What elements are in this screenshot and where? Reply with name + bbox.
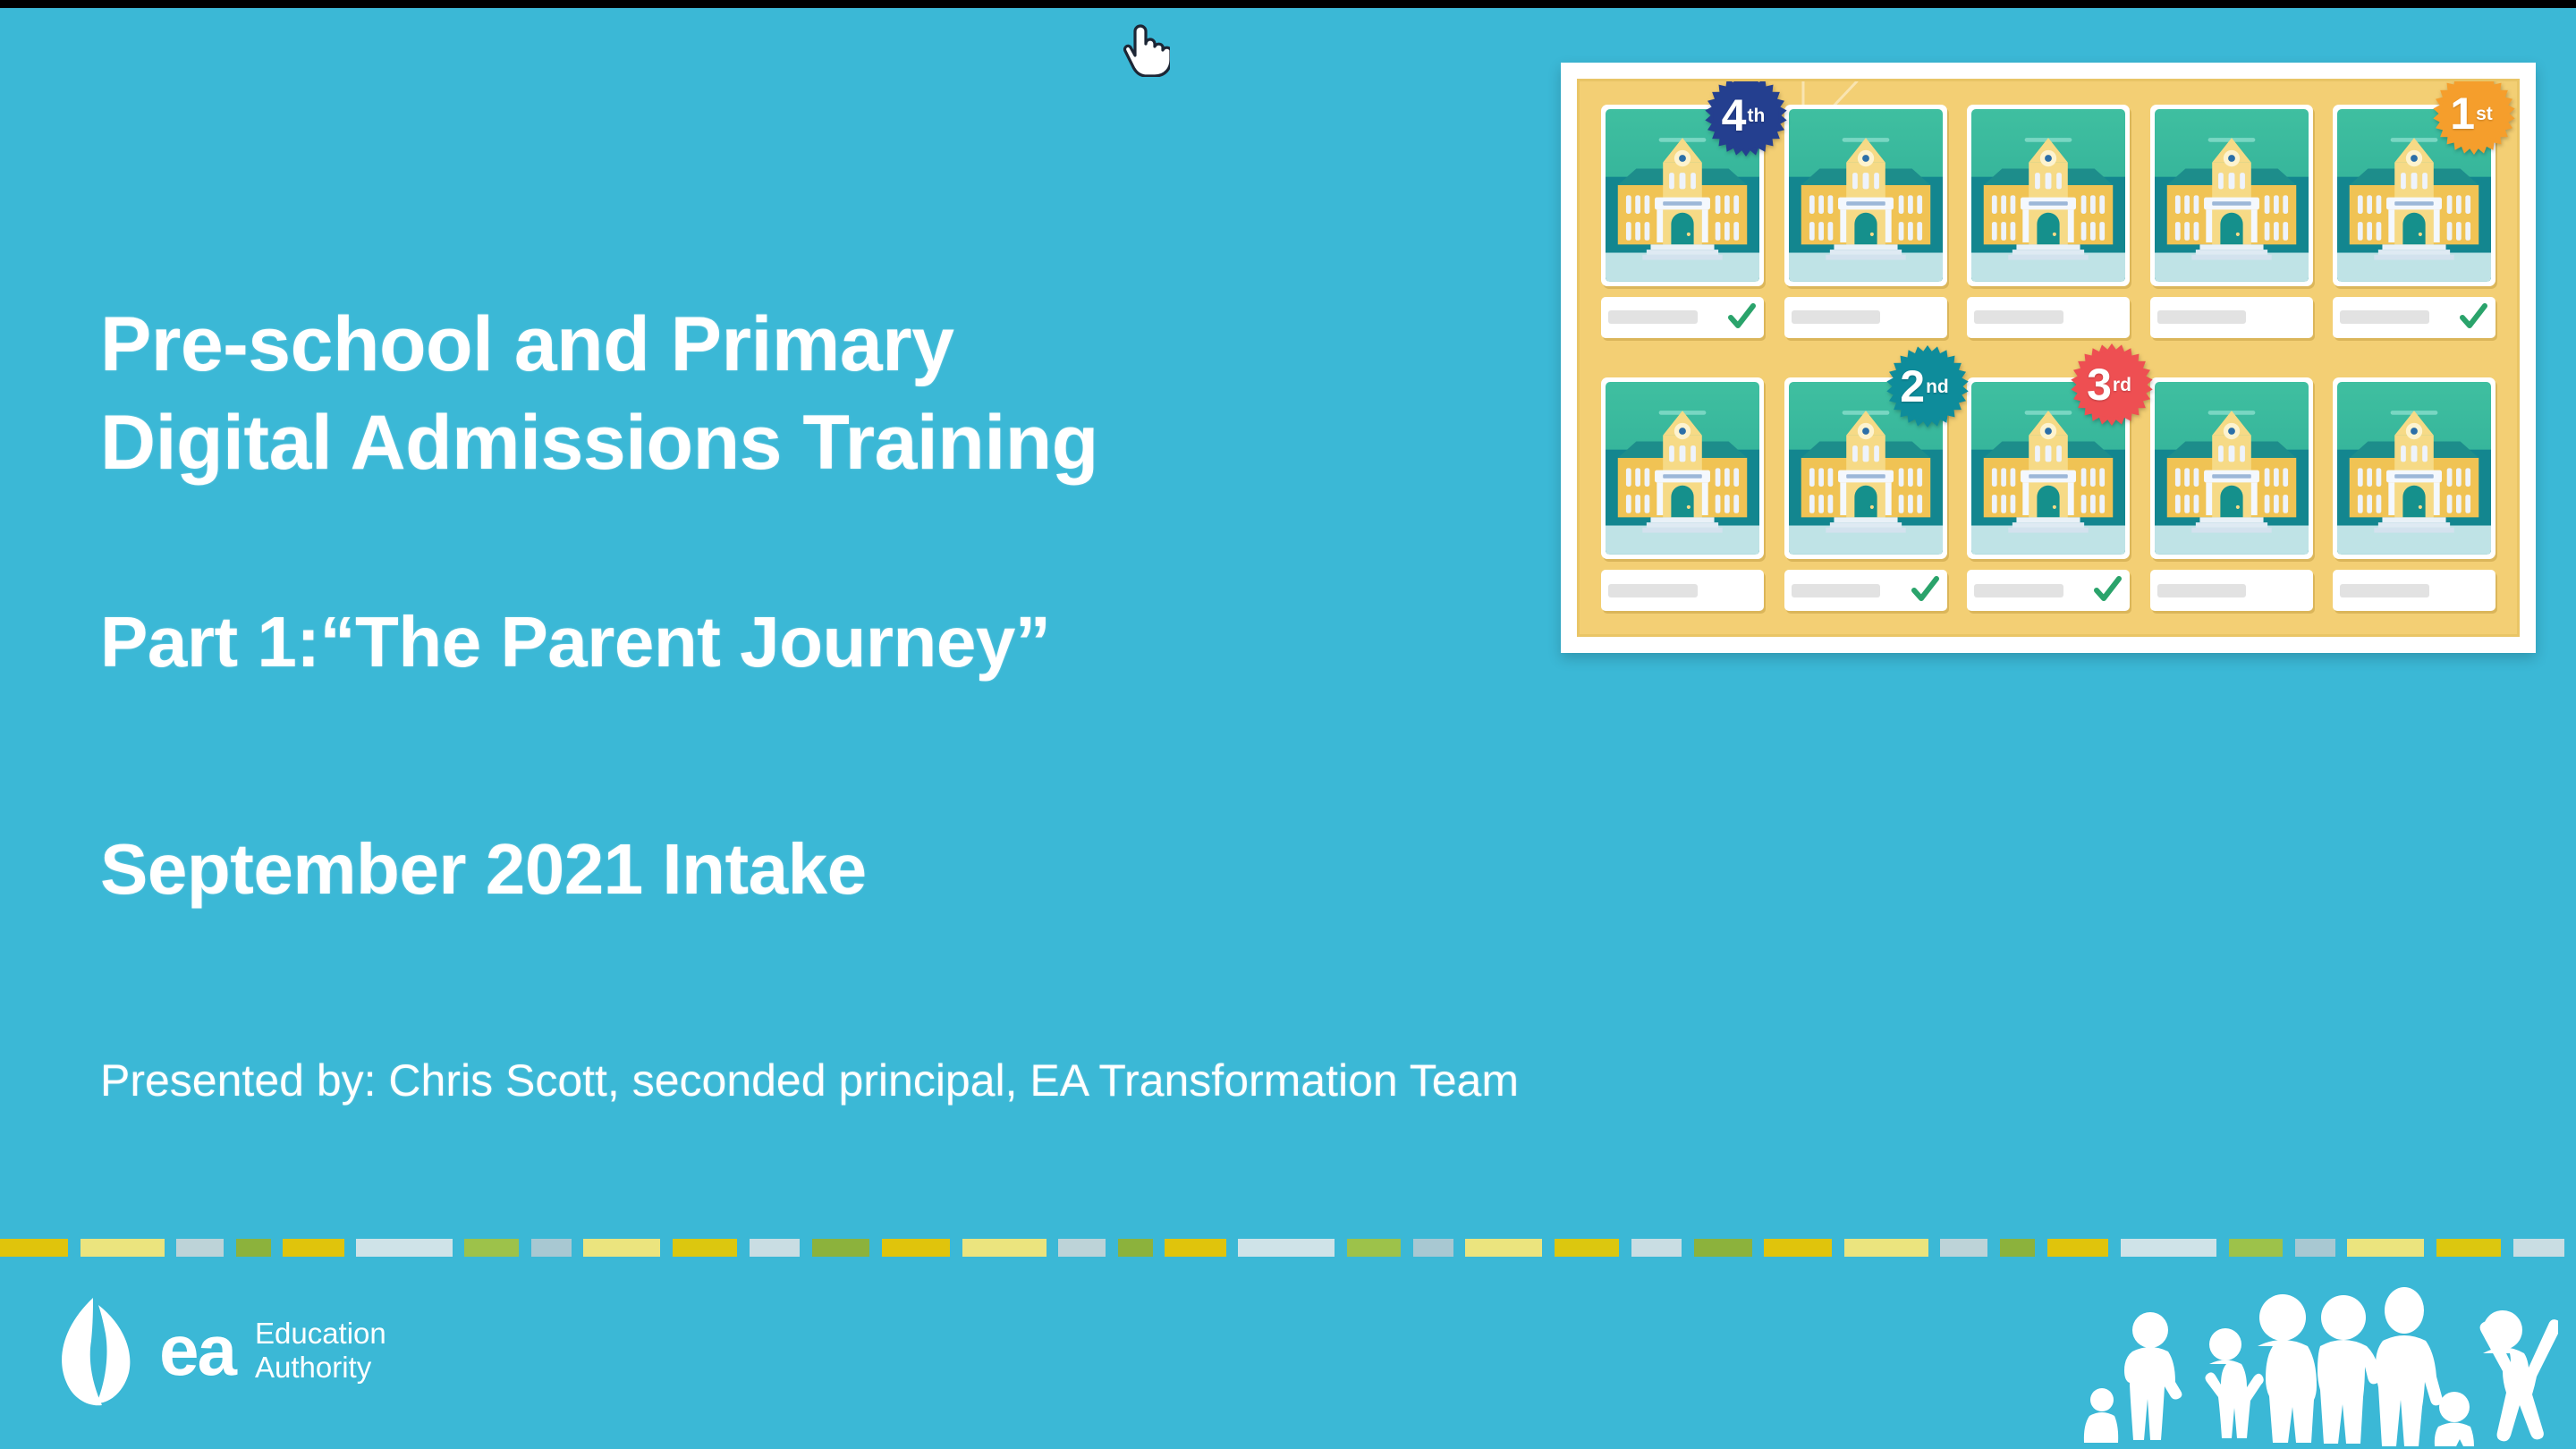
dash-segment [1764, 1239, 1832, 1257]
slide-footer: ea Education Authority [0, 1257, 2576, 1449]
pointing-hand-cursor-icon [1120, 20, 1170, 77]
school-name-field[interactable] [1601, 570, 1764, 611]
ea-wordmark: ea [159, 1315, 235, 1386]
dash-segment [1555, 1239, 1619, 1257]
dash-gap [1619, 1239, 1631, 1257]
school-name-field[interactable] [1967, 570, 2130, 611]
page-title-line2: Digital Admissions Training [100, 394, 1531, 492]
dash-gap [2564, 1239, 2576, 1257]
school-building-icon [2337, 382, 2491, 555]
dash-segment [1694, 1239, 1751, 1257]
dash-segment [812, 1239, 869, 1257]
presentation-slide: Pre-school and Primary Digital Admission… [0, 0, 2576, 1449]
dash-gap [800, 1239, 812, 1257]
checkmark-icon [1726, 302, 1757, 333]
dash-segment [882, 1239, 950, 1257]
school-name-field[interactable] [2333, 297, 2495, 338]
dash-gap [2108, 1239, 2121, 1257]
children-silhouettes-icon [2075, 1275, 2558, 1449]
school-choice-cell[interactable]: 3rd [1967, 377, 2130, 611]
school-choice-cell[interactable] [2150, 377, 2313, 611]
dash-segment [531, 1239, 572, 1257]
school-name-field[interactable] [1967, 297, 2130, 338]
ea-logo-subtext: Education Authority [255, 1317, 386, 1385]
dash-segment [2229, 1239, 2284, 1257]
school-building-icon [2155, 382, 2309, 555]
dash-gap [1335, 1239, 1347, 1257]
dash-gap [1928, 1239, 1941, 1257]
page-title-line1: Pre-school and Primary [100, 295, 1531, 394]
grid-row-1: 4th [1601, 105, 2495, 338]
school-choice-cell[interactable] [2150, 105, 2313, 338]
dash-gap [519, 1239, 531, 1257]
dash-gap [2335, 1239, 2348, 1257]
school-card[interactable]: 2nd [1784, 377, 1947, 559]
video-letterbox-bar [0, 0, 2576, 8]
school-name-field[interactable] [2150, 570, 2313, 611]
part-subtitle: Part 1:“The Parent Journey” [100, 599, 1531, 685]
school-building-icon [2155, 109, 2309, 282]
school-choice-cell[interactable] [1784, 105, 1947, 338]
dash-segment [1465, 1239, 1542, 1257]
dash-gap [660, 1239, 673, 1257]
school-building-icon [1606, 382, 1759, 555]
dash-segment [283, 1239, 343, 1257]
dash-gap [2424, 1239, 2436, 1257]
dash-segment [2121, 1239, 2216, 1257]
school-preference-grid-image: 4th [1561, 63, 2536, 653]
dash-gap [165, 1239, 177, 1257]
school-choice-cell[interactable]: 2nd [1784, 377, 1947, 611]
school-card[interactable] [1967, 105, 2130, 286]
dash-gap [2216, 1239, 2229, 1257]
dash-segment [80, 1239, 165, 1257]
grid-row-2: 2nd [1601, 377, 2495, 611]
dash-gap [453, 1239, 465, 1257]
dash-gap [1401, 1239, 1413, 1257]
ea-logo: ea Education Authority [47, 1292, 386, 1409]
dash-gap [950, 1239, 962, 1257]
dash-gap [869, 1239, 882, 1257]
dash-segment [750, 1239, 801, 1257]
checkmark-icon [2458, 302, 2488, 333]
placeholder-text [1792, 584, 1881, 597]
dash-segment [1058, 1239, 1106, 1257]
placeholder-text [1608, 584, 1698, 597]
dash-segment [1413, 1239, 1453, 1257]
dash-segment [2436, 1239, 2501, 1257]
dash-segment [1238, 1239, 1334, 1257]
preference-badge-4th: 4th [1705, 79, 1787, 157]
school-choice-cell[interactable] [1601, 377, 1764, 611]
dash-segment [1118, 1239, 1153, 1257]
placeholder-text [2340, 584, 2429, 597]
title-block: Pre-school and Primary Digital Admission… [100, 295, 1531, 1107]
grid-panel: 4th [1577, 79, 2520, 637]
school-choice-cell[interactable]: 4th [1601, 105, 1764, 338]
ea-leaf-icon [47, 1292, 154, 1409]
dash-segment [176, 1239, 224, 1257]
dash-segment [464, 1239, 519, 1257]
dash-segment [1631, 1239, 1682, 1257]
dash-gap [1542, 1239, 1555, 1257]
preference-badge-3rd: 3rd [2071, 343, 2153, 426]
school-card[interactable] [2333, 377, 2495, 559]
dash-segment [2347, 1239, 2424, 1257]
school-card[interactable] [2150, 377, 2313, 559]
placeholder-text [1608, 310, 1698, 324]
school-card[interactable] [2150, 105, 2313, 286]
dash-gap [344, 1239, 357, 1257]
school-choice-cell[interactable] [2333, 377, 2495, 611]
school-name-field[interactable] [1784, 570, 1947, 611]
school-name-field[interactable] [1601, 297, 1764, 338]
placeholder-text [2340, 310, 2429, 324]
dash-segment [2047, 1239, 2108, 1257]
dash-gap [572, 1239, 584, 1257]
school-name-field[interactable] [1784, 297, 1947, 338]
dash-gap [2283, 1239, 2295, 1257]
placeholder-text [1974, 584, 2063, 597]
dash-gap [2035, 1239, 2047, 1257]
dash-segment [1165, 1239, 1225, 1257]
dash-segment [2513, 1239, 2564, 1257]
school-name-field[interactable] [2150, 297, 2313, 338]
dash-segment [2000, 1239, 2035, 1257]
school-card[interactable]: 3rd [1967, 377, 2130, 559]
dash-segment [1844, 1239, 1928, 1257]
placeholder-text [2157, 310, 2247, 324]
dash-segment [236, 1239, 271, 1257]
dash-gap [271, 1239, 284, 1257]
checkmark-icon [1910, 575, 1940, 606]
dash-segment [583, 1239, 660, 1257]
dash-gap [2501, 1239, 2513, 1257]
intake-subtitle: September 2021 Intake [100, 826, 1531, 912]
placeholder-text [1792, 310, 1881, 324]
school-card[interactable]: 1st [2333, 105, 2495, 286]
dash-segment [673, 1239, 737, 1257]
checkmark-icon [2092, 575, 2123, 606]
dash-gap [1752, 1239, 1765, 1257]
school-card[interactable]: 4th [1601, 105, 1764, 286]
dash-gap [1682, 1239, 1694, 1257]
dash-segment [2295, 1239, 2335, 1257]
placeholder-text [1974, 310, 2063, 324]
dash-segment [356, 1239, 452, 1257]
presenter-line: Presented by: Chris Scott, seconded prin… [100, 1054, 1531, 1107]
preference-badge-1st: 1st [2433, 79, 2515, 155]
school-building-icon [1789, 109, 1943, 282]
ea-logo-line2: Authority [255, 1351, 386, 1385]
dash-segment [1940, 1239, 1987, 1257]
dash-gap [737, 1239, 750, 1257]
preference-badge-2nd: 2nd [1886, 345, 1969, 428]
placeholder-text [2157, 584, 2247, 597]
dash-gap [1106, 1239, 1118, 1257]
dash-gap [1453, 1239, 1466, 1257]
school-choice-cell[interactable] [1967, 105, 2130, 338]
dash-segment [1347, 1239, 1402, 1257]
dash-gap [68, 1239, 80, 1257]
school-card[interactable] [1601, 377, 1764, 559]
dash-gap [1153, 1239, 1165, 1257]
school-card[interactable] [1784, 105, 1947, 286]
school-name-field[interactable] [2333, 570, 2495, 611]
school-choice-cell[interactable]: 1st [2333, 105, 2495, 338]
decorative-dash-band [0, 1239, 2576, 1257]
dash-gap [1832, 1239, 1844, 1257]
dash-segment [0, 1239, 68, 1257]
dash-gap [1046, 1239, 1059, 1257]
dash-gap [1987, 1239, 2000, 1257]
school-building-icon [1971, 109, 2125, 282]
ea-logo-line1: Education [255, 1317, 386, 1351]
dash-gap [1226, 1239, 1239, 1257]
dash-gap [224, 1239, 236, 1257]
dash-segment [962, 1239, 1046, 1257]
